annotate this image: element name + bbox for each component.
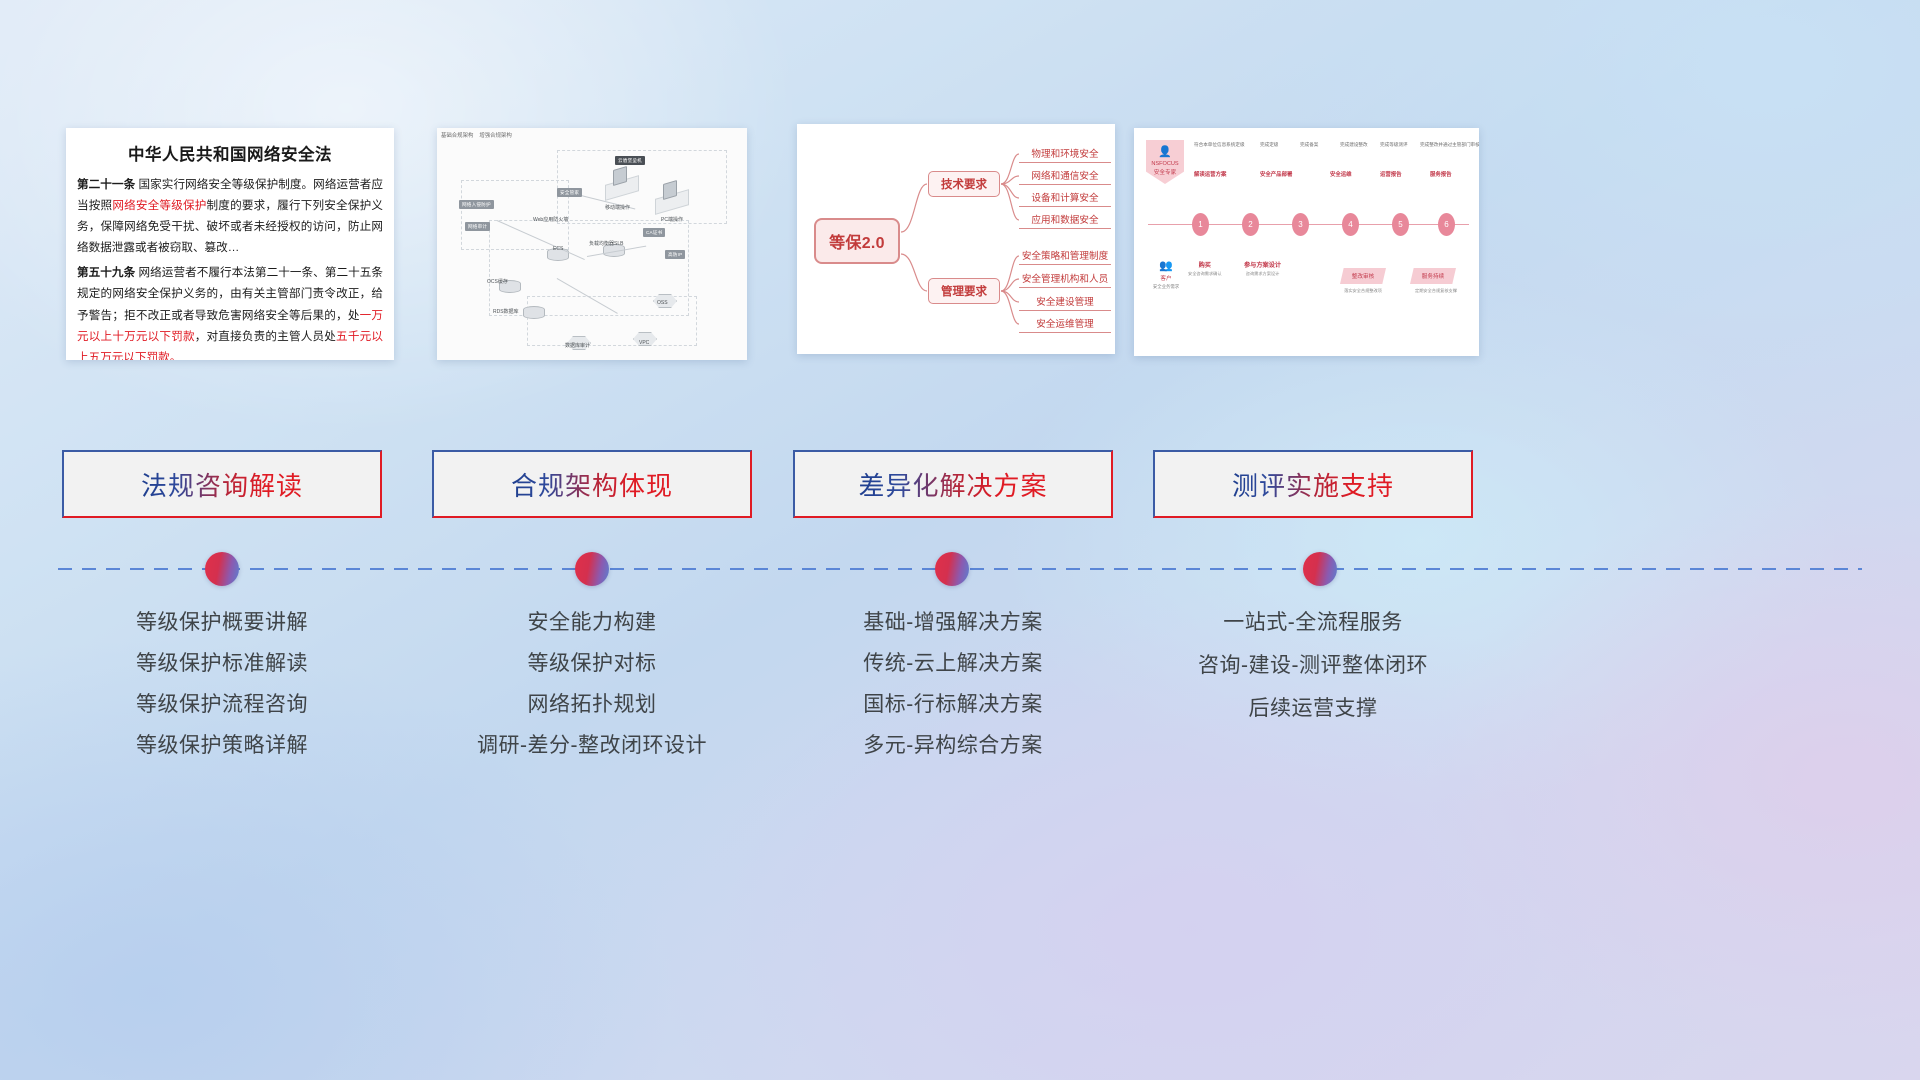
mindmap-leaf-mgmt-3: 安全建设管理 <box>1019 294 1111 311</box>
roadmap-phase-3: 运营报告 <box>1380 170 1402 178</box>
list-item: 咨询-建设-测评整体闭环 <box>1153 655 1473 676</box>
detail-list-3: 基础-增强解决方案 传统-云上解决方案 国标-行标解决方案 多元-异构综合方案 <box>793 612 1113 776</box>
roadmap-action-1-title: 参与方案设计 <box>1244 260 1281 269</box>
roadmap-toptag-3: 完成建设整改 <box>1340 142 1368 148</box>
roadmap-phase-0: 解读运营方案 <box>1194 170 1226 178</box>
list-item: 调研-差分-整改闭环设计 <box>432 735 752 756</box>
detail-list-1: 等级保护概要讲解 等级保护标准解读 等级保护流程咨询 等级保护策略详解 <box>62 612 382 776</box>
roadmap-tag-1-sub: 定期安全合规复核支撑 <box>1402 288 1470 294</box>
roadmap-toptag-1: 完成定级 <box>1260 142 1278 148</box>
timeline-dot-4[interactable] <box>1303 552 1337 586</box>
card-cybersecurity-law: 中华人民共和国网络安全法 第二十一条 国家实行网络安全等级保护制度。网络运营者应… <box>66 128 394 360</box>
roadmap-diagram: 👤 NSFOCUS 安全专家 符合本单位信息系统定级 完成定级 完成备案 完成建… <box>1134 128 1479 356</box>
timeline-dot-1[interactable] <box>205 552 239 586</box>
arch-label-vpc: VPC <box>639 340 649 346</box>
arch-cyl-rds <box>523 306 545 319</box>
list-item: 网络拓扑规划 <box>432 694 752 715</box>
roadmap-brand-sub: 安全专家 <box>1154 169 1176 177</box>
list-item: 后续运营支撑 <box>1153 698 1473 719</box>
mindmap-leaf-mgmt-1: 安全策略和管理制度 <box>1019 248 1111 265</box>
roadmap-phase-2: 安全运维 <box>1330 170 1352 178</box>
expert-icon: 👤 <box>1158 147 1172 158</box>
timeline-dot-3[interactable] <box>935 552 969 586</box>
mindmap-leaf-tech-1: 物理和环境安全 <box>1019 146 1111 163</box>
roadmap-step-1: 1 <box>1192 213 1209 236</box>
arch-label-waf: Web应用防火墙 <box>533 216 568 223</box>
list-item: 国标-行标解决方案 <box>793 694 1113 715</box>
customer-icon: 👥 <box>1148 258 1184 275</box>
phase-label-3: 差异化解决方案 <box>858 466 1047 503</box>
arch-label-mobile: 移动端操作 <box>605 204 630 211</box>
list-item: 传统-云上解决方案 <box>793 653 1113 674</box>
law-title: 中华人民共和国网络安全法 <box>66 141 394 165</box>
roadmap-step-2: 2 <box>1242 213 1259 236</box>
list-item: 等级保护对标 <box>432 653 752 674</box>
roadmap-toptag-5: 完成整改并通过主管部门审核 <box>1420 142 1479 148</box>
mindmap-branch-technical: 技术要求 <box>928 171 1000 197</box>
roadmap-customer-label: 客户 <box>1148 275 1184 283</box>
arch-node-antiddos: 高防IP <box>665 250 685 259</box>
roadmap-action-1-sub: 咨询需求方案设计 <box>1244 271 1281 277</box>
mindmap-leaf-mgmt-2: 安全管理机构和人员 <box>1019 271 1111 288</box>
phase-label-2: 合规架构体现 <box>511 466 673 503</box>
roadmap-customer-sub: 安全业务需求 <box>1148 284 1184 291</box>
mindmap-root: 等保2.0 <box>814 218 900 264</box>
card-nsfocus-roadmap: 👤 NSFOCUS 安全专家 符合本单位信息系统定级 完成定级 完成备案 完成建… <box>1134 128 1479 356</box>
roadmap-step-6: 6 <box>1438 213 1455 236</box>
architecture-tabs: 基础合规架构 增强合规架构 <box>441 131 512 139</box>
arch-node-bastion: 云盾堡垒机 <box>615 156 645 165</box>
architecture-diagram: 基础合规架构 增强合规架构 <box>437 128 747 360</box>
arch-label-ocs: OCS缓存 <box>487 278 508 285</box>
arch-tab-basic: 基础合规架构 <box>441 131 473 139</box>
arch-label-ecs: ECS <box>553 246 563 252</box>
arch-label-slb: 负载均衡器SLB <box>589 240 623 247</box>
roadmap-action-0: 购买 安全咨询需求确认 <box>1188 260 1222 277</box>
roadmap-action-1: 参与方案设计 咨询需求方案设计 <box>1244 260 1281 277</box>
mindmap-leaf-tech-3: 设备和计算安全 <box>1019 190 1111 207</box>
mindmap-leaf-tech-2: 网络和通信安全 <box>1019 168 1111 185</box>
slide-canvas: 中华人民共和国网络安全法 第二十一条 国家实行网络安全等级保护制度。网络运营者应… <box>0 0 1920 1080</box>
list-item: 等级保护标准解读 <box>62 653 382 674</box>
roadmap-tag-1: 服务持续 <box>1410 268 1456 284</box>
roadmap-brand: NSFOCUS <box>1151 160 1178 168</box>
roadmap-toptag-2: 完成备案 <box>1300 142 1318 148</box>
law-article-59: 第五十九条 网络运营者不履行本法第二十一条、第二十五条规定的网络安全保护义务的，… <box>77 262 383 360</box>
phase-label-1: 法规咨询解读 <box>141 466 303 503</box>
roadmap-toptag-4: 完成等级测评 <box>1380 142 1408 148</box>
phase-box-4[interactable]: 测评实施支持 <box>1153 450 1473 518</box>
list-item: 等级保护流程咨询 <box>62 694 382 715</box>
law-body: 第二十一条 国家实行网络安全等级保护制度。网络运营者应当按照网络安全等级保护制度… <box>66 174 394 360</box>
roadmap-tag-0-sub: 落实安全合规整改项 <box>1334 288 1392 294</box>
roadmap-phase-4: 服务报告 <box>1430 170 1452 178</box>
roadmap-phase-1: 安全产品部署 <box>1260 170 1292 178</box>
list-item: 一站式-全流程服务 <box>1153 612 1473 633</box>
arch-label-pc: PC端操作 <box>661 216 683 223</box>
phase-label-4: 测评实施支持 <box>1232 466 1394 503</box>
roadmap-step-3: 3 <box>1292 213 1309 236</box>
arch-node-manager: 安全管家 <box>557 188 582 197</box>
detail-list-2: 安全能力构建 等级保护对标 网络拓扑规划 调研-差分-整改闭环设计 <box>432 612 752 776</box>
article-59-part2: ，对直接负责的主管人员处 <box>195 330 336 343</box>
list-item: 等级保护策略详解 <box>62 735 382 756</box>
roadmap-brand-badge: 👤 NSFOCUS 安全专家 <box>1146 140 1184 184</box>
list-item: 等级保护概要讲解 <box>62 612 382 633</box>
roadmap-action-0-title: 购买 <box>1188 260 1222 269</box>
detail-list-4: 一站式-全流程服务 咨询-建设-测评整体闭环 后续运营支撑 <box>1153 612 1473 741</box>
roadmap-step-4: 4 <box>1342 213 1359 236</box>
article-21-highlight: 网络安全等级保护 <box>112 199 206 212</box>
phase-box-1[interactable]: 法规咨询解读 <box>62 450 382 518</box>
arch-node-ca: CA证书 <box>643 228 665 237</box>
arch-label-rds: RDS数据库 <box>493 308 519 315</box>
law-article-21: 第二十一条 国家实行网络安全等级保护制度。网络运营者应当按照网络安全等级保护制度… <box>77 174 383 258</box>
timeline-dot-2[interactable] <box>575 552 609 586</box>
roadmap-action-0-sub: 安全咨询需求确认 <box>1188 271 1222 277</box>
list-item: 多元-异构综合方案 <box>793 735 1113 756</box>
roadmap-step-5: 5 <box>1392 213 1409 236</box>
phase-box-3[interactable]: 差异化解决方案 <box>793 450 1113 518</box>
arch-label-oss: OSS <box>657 300 668 306</box>
mindmap: 等保2.0 技术要求 管理要求 物理和环境安全 网络和通信安全 设备和计算安全 … <box>797 124 1115 354</box>
card-dengbao-mindmap: 等保2.0 技术要求 管理要求 物理和环境安全 网络和通信安全 设备和计算安全 … <box>797 124 1115 354</box>
phase-box-2[interactable]: 合规架构体现 <box>432 450 752 518</box>
card-compliance-architecture: 基础合规架构 增强合规架构 <box>437 128 747 360</box>
roadmap-toptag-0: 符合本单位信息系统定级 <box>1194 142 1245 148</box>
mindmap-leaf-mgmt-4: 安全运维管理 <box>1019 316 1111 333</box>
list-item: 安全能力构建 <box>432 612 752 633</box>
roadmap-customer: 👥 客户 安全业务需求 <box>1148 258 1184 291</box>
arch-tab-enhanced: 增强合规架构 <box>479 131 511 139</box>
roadmap-tag-0: 整改审核 <box>1340 268 1386 284</box>
article-21-label: 第二十一条 <box>77 178 135 191</box>
article-59-label: 第五十九条 <box>77 266 135 279</box>
list-item: 基础-增强解决方案 <box>793 612 1113 633</box>
mindmap-branch-management: 管理要求 <box>928 278 1000 304</box>
mindmap-leaf-tech-4: 应用和数据安全 <box>1019 212 1111 229</box>
arch-node-netaudit: 网络审计 <box>465 222 490 231</box>
arch-label-dbaudit: 数据库审计 <box>565 342 590 349</box>
arch-node-ips: 网络入侵防护 <box>459 200 494 209</box>
